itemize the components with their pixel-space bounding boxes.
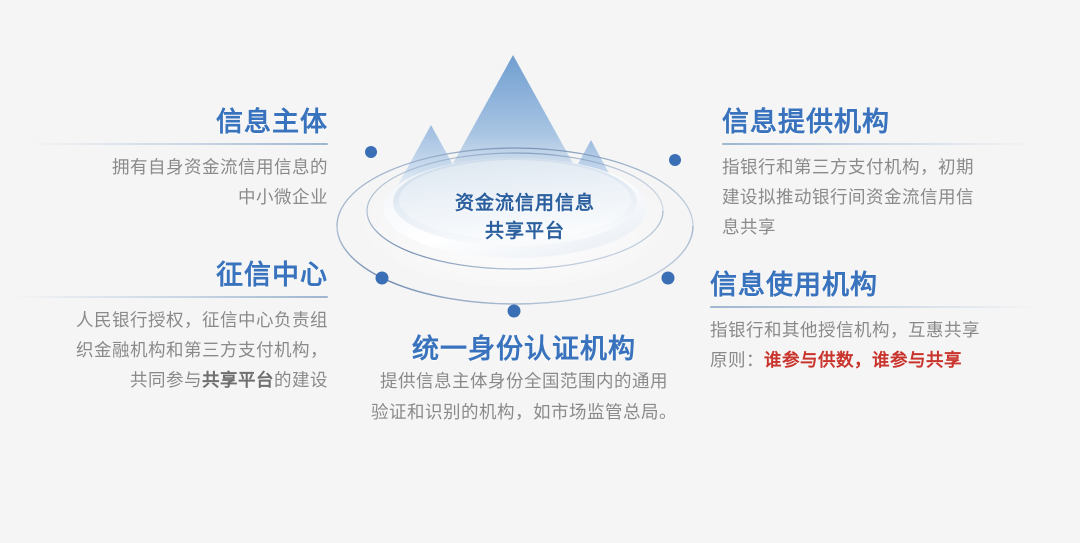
body-line: 提供信息主体身份全国范围内的通用 (380, 371, 668, 391)
body-line: 建设拟推动银行间资金流信用信 (722, 187, 974, 207)
heading-credit-reference-center: 征信中心 (10, 258, 328, 292)
block-identity-authentication: 统一身份认证机构 提供信息主体身份全国范围内的通用 验证和识别的机构，如市场监管… (350, 332, 698, 428)
platform-illustration (330, 30, 720, 340)
heading-information-provider: 信息提供机构 (722, 105, 1034, 139)
body-identity-authentication: 提供信息主体身份全国范围内的通用 验证和识别的机构，如市场监管总局。 (350, 366, 698, 428)
block-information-subject: 信息主体 拥有自身资金流信用信息的 中小微企业 (28, 105, 328, 212)
body-information-subject: 拥有自身资金流信用信息的 中小微企业 (28, 152, 328, 212)
heading-divider (710, 306, 1040, 308)
body-line-post: 的建设 (274, 370, 328, 390)
heading-information-subject: 信息主体 (28, 105, 328, 139)
orbit-dot-bottom-right (662, 272, 675, 285)
body-information-provider: 指银行和第三方支付机构，初期 建设拟推动银行间资金流信用信 息共享 (722, 152, 1034, 242)
body-information-user: 指银行和其他授信机构，互惠共享 原则：谁参与供数，谁参与共享 (710, 315, 1040, 375)
infographic-canvas: 资金流信用信息 共享平台 信息主体 拥有自身资金流信用信息的 中小微企业 征信中… (0, 0, 1080, 543)
body-line-pre: 原则： (710, 350, 764, 370)
heading-information-user: 信息使用机构 (710, 268, 1040, 302)
orbit-dot-top-right (669, 154, 681, 166)
heading-divider (10, 296, 328, 298)
body-line: 织金融机构和第三方支付机构， (76, 340, 328, 360)
block-information-provider: 信息提供机构 指银行和第三方支付机构，初期 建设拟推动银行间资金流信用信 息共享 (722, 105, 1034, 242)
body-line: 拥有自身资金流信用信息的 (112, 157, 328, 177)
body-line: 指银行和第三方支付机构，初期 (722, 157, 974, 177)
orbit-dot-top-left (365, 146, 377, 158)
orbit-dot-bottom-center (508, 305, 521, 318)
body-line: 指银行和其他授信机构，互惠共享 (710, 320, 980, 340)
body-line: 息共享 (722, 217, 776, 237)
body-line: 人民银行授权，征信中心负责组 (76, 310, 328, 330)
central-platform-graphic: 资金流信用信息 共享平台 (330, 30, 720, 340)
block-credit-reference-center: 征信中心 人民银行授权，征信中心负责组 织金融机构和第三方支付机构， 共同参与共… (10, 258, 328, 395)
heading-divider (28, 143, 328, 145)
orbit-dot-bottom-left (376, 272, 389, 285)
body-accent-principle: 谁参与供数，谁参与共享 (764, 350, 962, 370)
block-information-user: 信息使用机构 指银行和其他授信机构，互惠共享 原则：谁参与供数，谁参与共享 (710, 268, 1040, 375)
body-line: 中小微企业 (238, 187, 328, 207)
body-line: 验证和识别的机构，如市场监管总局。 (371, 402, 677, 422)
body-credit-reference-center: 人民银行授权，征信中心负责组 织金融机构和第三方支付机构， 共同参与共享平台的建… (10, 305, 328, 395)
body-emphasis: 共享平台 (202, 370, 274, 390)
body-line-pre: 共同参与 (130, 370, 202, 390)
heading-divider (722, 143, 1034, 145)
heading-identity-authentication: 统一身份认证机构 (350, 332, 698, 366)
